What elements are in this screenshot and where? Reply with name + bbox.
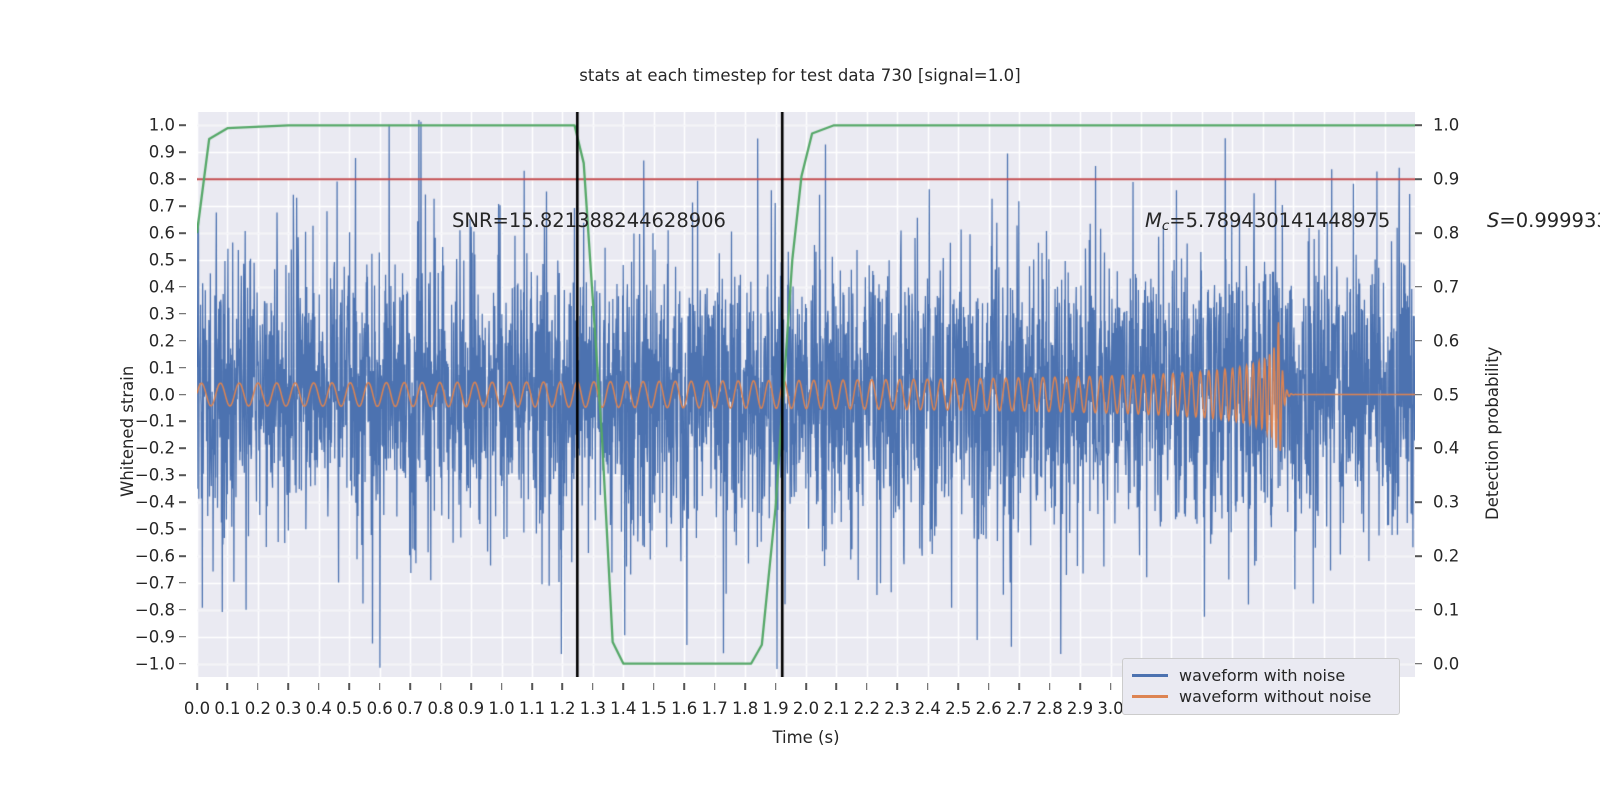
y-axis-right-tick-label: 0.4 — [1433, 439, 1459, 458]
legend: waveform with noise waveform without noi… — [1122, 658, 1400, 715]
y-axis-right-tick-label: 0.1 — [1433, 600, 1459, 619]
y-axis-right-tick-label: 0.3 — [1433, 493, 1459, 512]
y-axis-left-tick-label: −0.1 — [135, 412, 175, 431]
y-axis-left-tick-label: 0.4 — [149, 277, 175, 296]
x-axis-tick-label: 0.7 — [397, 699, 423, 718]
legend-label-without-noise: waveform without noise — [1179, 687, 1371, 706]
y-axis-left-tick-mark — [179, 152, 186, 154]
x-axis-tick-label: 1.6 — [671, 699, 697, 718]
y-axis-left-tick-mark — [179, 609, 186, 611]
x-axis-tick-mark — [562, 683, 564, 690]
annotation-score: S=0.9999338388442993 — [1487, 209, 1600, 232]
annotation-chirp-mass: Mc=5.789430141448975 — [1145, 209, 1390, 234]
y-axis-left-tick-mark — [179, 501, 186, 503]
x-axis-tick-mark — [379, 683, 381, 690]
figure-canvas: stats at each timestep for test data 730… — [0, 0, 1600, 800]
x-axis-tick-mark — [836, 683, 838, 690]
x-axis-tick-label: 2.9 — [1067, 699, 1093, 718]
x-axis-tick-label: 1.5 — [641, 699, 667, 718]
annotation-chirp-mass-symbol: M — [1145, 209, 1162, 232]
x-axis-tick-mark — [957, 683, 959, 690]
legend-entry-waveform-without-noise: waveform without noise — [1132, 686, 1390, 707]
y-axis-left-tick-label: −0.7 — [135, 573, 175, 592]
x-axis-tick-label: 2.3 — [884, 699, 910, 718]
x-axis-tick-mark — [683, 683, 685, 690]
x-axis-tick-mark — [531, 683, 533, 690]
y-axis-left-tick-label: −0.6 — [135, 546, 175, 565]
x-axis-tick-mark — [775, 683, 777, 690]
x-axis-tick-label: 1.9 — [762, 699, 788, 718]
x-axis-tick-label: 0.6 — [367, 699, 393, 718]
y-axis-right-tick-label: 0.0 — [1433, 654, 1459, 673]
x-axis-tick-label: 0.4 — [306, 699, 332, 718]
x-axis-tick-mark — [440, 683, 442, 690]
x-axis-tick-label: 2.4 — [915, 699, 941, 718]
y-axis-right-tick-mark — [1415, 125, 1422, 127]
y-axis-left-tick-mark — [179, 663, 186, 665]
x-axis-tick-label: 0.1 — [214, 699, 240, 718]
x-axis-tick-mark — [1110, 683, 1112, 690]
x-axis-tick-label: 0.9 — [458, 699, 484, 718]
y-axis-right-tick-mark — [1415, 286, 1422, 288]
y-axis-left-tick-label: 0.8 — [149, 170, 175, 189]
x-axis-tick-mark — [501, 683, 503, 690]
x-axis-tick-label: 2.2 — [854, 699, 880, 718]
y-axis-left-tick-label: −0.4 — [135, 493, 175, 512]
y-axis-left-tick-mark — [179, 259, 186, 261]
y-axis-left-tick-mark — [179, 125, 186, 127]
annotation-snr-label: SNR= — [452, 209, 509, 232]
annotation-score-equals: = — [1499, 209, 1515, 232]
y-axis-left-tick-mark — [179, 555, 186, 557]
x-axis-tick-label: 1.2 — [549, 699, 575, 718]
x-axis-tick-mark — [623, 683, 625, 690]
x-axis-tick-label: 1.4 — [610, 699, 636, 718]
y-axis-right-tick-label: 0.9 — [1433, 170, 1459, 189]
y-axis-left-tick-label: 0.6 — [149, 224, 175, 243]
x-axis-tick-mark — [653, 683, 655, 690]
y-axis-left-tick-mark — [179, 178, 186, 180]
annotation-snr: SNR=15.821388244628906 — [452, 209, 726, 232]
y-axis-left-tick-mark — [179, 232, 186, 234]
y-axis-right-ticks: 1.00.90.80.70.60.50.40.30.20.10.0 — [1415, 112, 1485, 677]
y-axis-right-tick-label: 1.0 — [1433, 116, 1459, 135]
y-axis-left-tick-label: 1.0 — [149, 116, 175, 135]
y-axis-left-tick-label: 0.9 — [149, 143, 175, 162]
y-axis-left-tick-label: 0.2 — [149, 331, 175, 350]
x-axis-tick-label: 0.8 — [427, 699, 453, 718]
x-axis-label: Time (s) — [197, 728, 1415, 747]
y-axis-right-tick-mark — [1415, 609, 1422, 611]
x-axis-tick-mark — [1018, 683, 1020, 690]
x-axis-tick-label: 2.0 — [793, 699, 819, 718]
annotation-snr-value: 15.821388244628906 — [509, 209, 726, 232]
annotation-chirp-mass-equals: = — [1169, 209, 1185, 232]
x-axis-tick-label: 2.6 — [976, 699, 1002, 718]
plot-canvas[interactable] — [197, 112, 1415, 677]
x-axis-tick-label: 2.8 — [1036, 699, 1062, 718]
legend-swatch-without-noise — [1132, 695, 1168, 698]
y-axis-left-tick-label: 0.0 — [149, 385, 175, 404]
annotation-score-value: 0.9999338388442993 — [1516, 209, 1600, 232]
x-axis-tick-mark — [196, 683, 198, 690]
y-axis-left-tick-label: −0.3 — [135, 466, 175, 485]
y-axis-left-tick-mark — [179, 367, 186, 369]
x-axis-tick-mark — [866, 683, 868, 690]
legend-label-with-noise: waveform with noise — [1179, 666, 1345, 685]
y-axis-left-tick-mark — [179, 582, 186, 584]
x-axis-tick-label: 1.7 — [702, 699, 728, 718]
annotation-score-symbol: S — [1487, 209, 1499, 232]
x-axis-tick-mark — [988, 683, 990, 690]
y-axis-left-tick-mark — [179, 394, 186, 396]
y-axis-right-tick-label: 0.6 — [1433, 331, 1459, 350]
x-axis-tick-mark — [257, 683, 259, 690]
y-axis-left-tick-mark — [179, 636, 186, 638]
x-axis-tick-mark — [470, 683, 472, 690]
legend-swatch-with-noise — [1132, 674, 1168, 677]
y-axis-left-tick-label: −0.8 — [135, 600, 175, 619]
y-axis-left-tick-label: 0.7 — [149, 197, 175, 216]
x-axis-tick-label: 1.8 — [732, 699, 758, 718]
x-axis-tick-mark — [1079, 683, 1081, 690]
x-axis-tick-mark — [592, 683, 594, 690]
x-axis-tick-mark — [897, 683, 899, 690]
plot-area[interactable]: SNR=15.821388244628906 Mc=5.789430141448… — [197, 112, 1415, 677]
y-axis-right-tick-mark — [1415, 340, 1422, 342]
y-axis-left-tick-label: 0.1 — [149, 358, 175, 377]
x-axis-tick-mark — [288, 683, 290, 690]
y-axis-left-tick-label: 0.3 — [149, 304, 175, 323]
y-axis-right-tick-label: 0.8 — [1433, 224, 1459, 243]
x-axis-tick-mark — [927, 683, 929, 690]
y-axis-left-tick-label: 0.5 — [149, 250, 175, 269]
y-axis-left-tick-label: −0.5 — [135, 520, 175, 539]
y-axis-right-tick-mark — [1415, 178, 1422, 180]
y-axis-right-tick-mark — [1415, 394, 1422, 396]
y-axis-left-label: Whitened strain — [118, 366, 137, 497]
x-axis-tick-mark — [1049, 683, 1051, 690]
y-axis-left-tick-mark — [179, 205, 186, 207]
y-axis-left-tick-mark — [179, 448, 186, 450]
annotation-chirp-mass-value: 5.789430141448975 — [1186, 209, 1391, 232]
x-axis-tick-label: 2.7 — [1006, 699, 1032, 718]
x-axis-tick-label: 1.0 — [488, 699, 514, 718]
x-axis-tick-label: 0.5 — [336, 699, 362, 718]
x-axis-tick-mark — [714, 683, 716, 690]
x-axis-tick-label: 0.3 — [275, 699, 301, 718]
x-axis-tick-mark — [744, 683, 746, 690]
y-axis-left-tick-mark — [179, 340, 186, 342]
y-axis-right-tick-label: 0.5 — [1433, 385, 1459, 404]
x-axis-tick-label: 3.0 — [1097, 699, 1123, 718]
x-axis-tick-label: 1.1 — [519, 699, 545, 718]
y-axis-left-tick-mark — [179, 421, 186, 423]
y-axis-left-tick-label: −1.0 — [135, 654, 175, 673]
y-axis-left-tick-mark — [179, 528, 186, 530]
x-axis-tick-mark — [348, 683, 350, 690]
figure-title: stats at each timestep for test data 730… — [0, 66, 1600, 85]
y-axis-left-tick-mark — [179, 313, 186, 315]
x-axis-tick-mark — [805, 683, 807, 690]
y-axis-right-tick-mark — [1415, 448, 1422, 450]
y-axis-right-tick-mark — [1415, 555, 1422, 557]
y-axis-right-tick-mark — [1415, 501, 1422, 503]
y-axis-right-tick-mark — [1415, 663, 1422, 665]
y-axis-left-tick-label: −0.9 — [135, 627, 175, 646]
y-axis-left-tick-mark — [179, 474, 186, 476]
x-axis-tick-label: 0.0 — [184, 699, 210, 718]
x-axis-tick-label: 0.2 — [245, 699, 271, 718]
x-axis-tick-label: 2.5 — [945, 699, 971, 718]
x-axis-tick-label: 2.1 — [823, 699, 849, 718]
x-axis-tick-mark — [409, 683, 411, 690]
y-axis-right-tick-label: 0.7 — [1433, 277, 1459, 296]
legend-entry-waveform-with-noise: waveform with noise — [1132, 665, 1390, 686]
x-axis-tick-label: 1.3 — [580, 699, 606, 718]
y-axis-left-tick-mark — [179, 286, 186, 288]
y-axis-right-label: Detection probability — [1483, 347, 1502, 520]
y-axis-left-tick-label: −0.2 — [135, 439, 175, 458]
x-axis-tick-mark — [318, 683, 320, 690]
y-axis-right-tick-mark — [1415, 232, 1422, 234]
y-axis-right-tick-label: 0.2 — [1433, 546, 1459, 565]
x-axis-tick-mark — [227, 683, 229, 690]
